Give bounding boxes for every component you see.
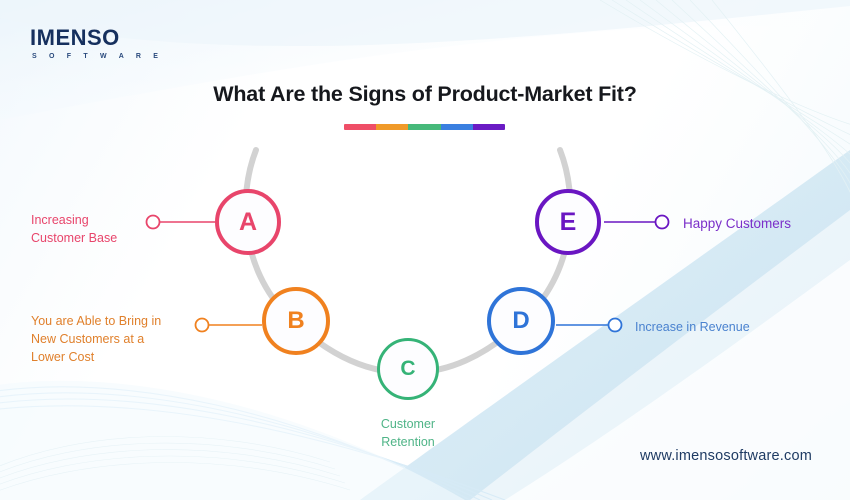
node-a[interactable]: A — [215, 189, 281, 255]
accent-segment-1 — [344, 124, 376, 130]
logo-wordmark: IMENSO — [30, 27, 163, 49]
label-node-a: Increasing Customer Base — [31, 211, 151, 247]
node-c[interactable]: C — [377, 338, 439, 400]
label-node-c-line1: Customer — [348, 415, 468, 433]
label-node-e-line1: Happy Customers — [683, 214, 850, 234]
accent-segment-2 — [376, 124, 408, 130]
brand-logo: IMENSO S O F T W A R E — [30, 27, 163, 60]
label-node-a-line1: Increasing — [31, 211, 151, 229]
label-node-b-line2: New Customers at a — [31, 330, 199, 348]
node-b-letter: B — [287, 307, 304, 335]
label-node-b-line1: You are Able to Bring in — [31, 312, 199, 330]
infographic-canvas: IMENSO S O F T W A R E What Are the Sign… — [0, 0, 850, 500]
accent-segment-5 — [473, 124, 505, 130]
page-title: What Are the Signs of Product-Market Fit… — [0, 82, 850, 107]
accent-segment-3 — [408, 124, 440, 130]
connector-dot-d — [609, 319, 622, 332]
label-node-d-line1: Increase in Revenue — [635, 318, 825, 336]
label-node-d: Increase in Revenue — [635, 318, 825, 336]
node-c-letter: C — [400, 357, 415, 381]
label-node-e: Happy Customers — [683, 214, 850, 234]
node-a-letter: A — [239, 208, 257, 237]
title-accent-bar — [344, 124, 505, 130]
connector-dot-e — [656, 216, 669, 229]
node-e-letter: E — [560, 208, 577, 237]
footer-website-url[interactable]: www.imensosoftware.com — [640, 448, 812, 464]
label-node-c-line2: Retention — [348, 433, 468, 451]
node-e[interactable]: E — [535, 189, 601, 255]
label-node-a-line2: Customer Base — [31, 229, 151, 247]
label-node-b: You are Able to Bring in New Customers a… — [31, 312, 199, 366]
node-d-letter: D — [512, 307, 529, 335]
node-b[interactable]: B — [262, 287, 330, 355]
logo-tagline: S O F T W A R E — [32, 53, 163, 60]
label-node-b-line3: Lower Cost — [31, 348, 199, 366]
label-node-c: Customer Retention — [348, 415, 468, 451]
node-d[interactable]: D — [487, 287, 555, 355]
accent-segment-4 — [441, 124, 473, 130]
